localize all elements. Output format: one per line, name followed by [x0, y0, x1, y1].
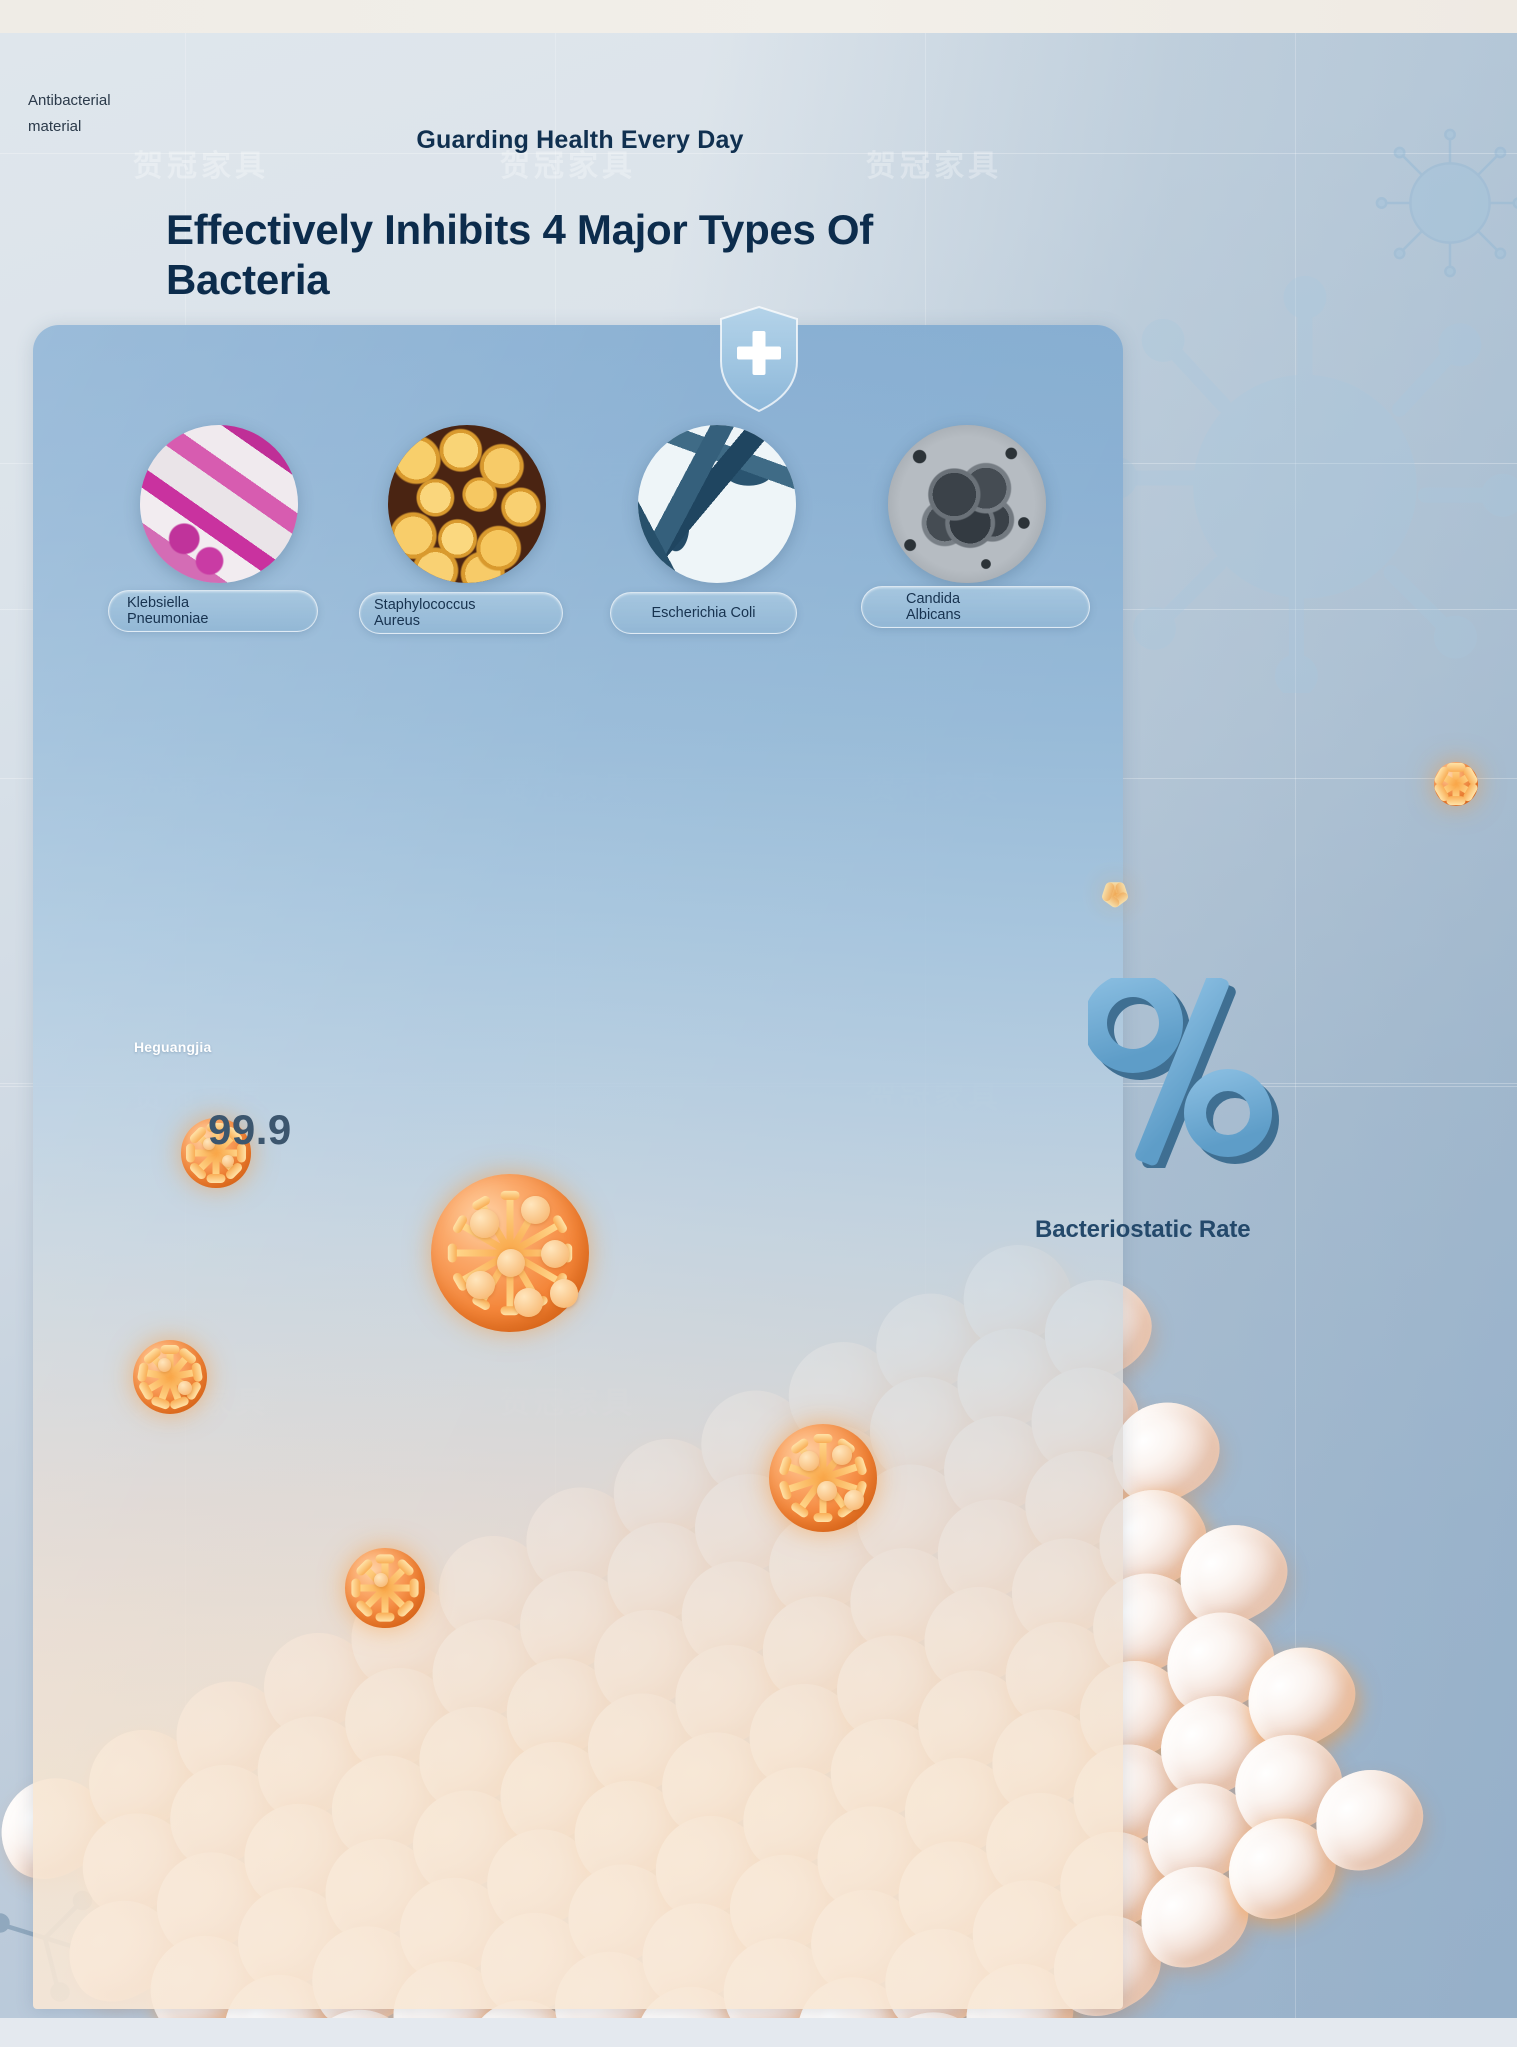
- page-top-strip: [0, 0, 1517, 33]
- bacteria-label-text: Escherichia Coli: [652, 605, 756, 622]
- brandmark-label: Heguangjia: [134, 1039, 211, 1055]
- page-title: Effectively Inhibits 4 Major Types Of Ba…: [166, 205, 956, 305]
- eyebrow-text: Guarding Health Every Day: [0, 126, 1160, 155]
- klebsiella-pneumoniae-micrograph: [140, 425, 298, 583]
- bacteria-label-text: Klebsiella Pneumoniae: [127, 595, 208, 628]
- bacteria-label-candida-albicans[interactable]: Candida Albicans: [861, 586, 1090, 628]
- virus-particle: [1102, 881, 1128, 907]
- bacteria-item-staphylococcus-aureus[interactable]: [388, 425, 546, 583]
- virus-particle: [330, 1533, 440, 1643]
- escherichia-coli-micrograph: [638, 425, 796, 583]
- bacteria-item-klebsiella-pneumoniae[interactable]: [140, 425, 298, 583]
- bacteria-item-candida-albicans[interactable]: [888, 425, 1046, 583]
- bacteriostatic-rate-value: 99.9: [208, 1106, 292, 1154]
- bacteria-label-text: Candida Albicans: [906, 591, 961, 624]
- virus-particle: [118, 1325, 222, 1429]
- page-bottom-strip: [0, 2018, 1517, 2047]
- bacteria-label-klebsiella-pneumoniae[interactable]: Klebsiella Pneumoniae: [108, 590, 318, 632]
- virus-particle: [1425, 753, 1487, 815]
- bacteria-item-escherichia-coli[interactable]: [638, 425, 796, 583]
- candida-albicans-micrograph: [888, 425, 1046, 583]
- bacteria-label-escherichia-coli[interactable]: Escherichia Coli: [610, 592, 797, 634]
- bacteria-label-text: Staphylococcus Aureus: [374, 597, 476, 630]
- bacteriostatic-rate-caption: Bacteriostatic Rate: [1035, 1216, 1251, 1244]
- virus-particle: [400, 1143, 620, 1363]
- percent-symbol-icon: [1088, 978, 1288, 1168]
- bacteria-label-staphylococcus-aureus[interactable]: Staphylococcus Aureus: [359, 592, 563, 634]
- virus-particle: [748, 1403, 898, 1553]
- staphylococcus-aureus-micrograph: [388, 425, 546, 583]
- shield-plus-icon: [718, 305, 800, 413]
- antibacterial-poster: 贺冠家具 贺冠家具 贺冠家具 贺冠家具 贺冠家具 贺冠家具 贺冠家具 贺冠家具 …: [0, 33, 1517, 2018]
